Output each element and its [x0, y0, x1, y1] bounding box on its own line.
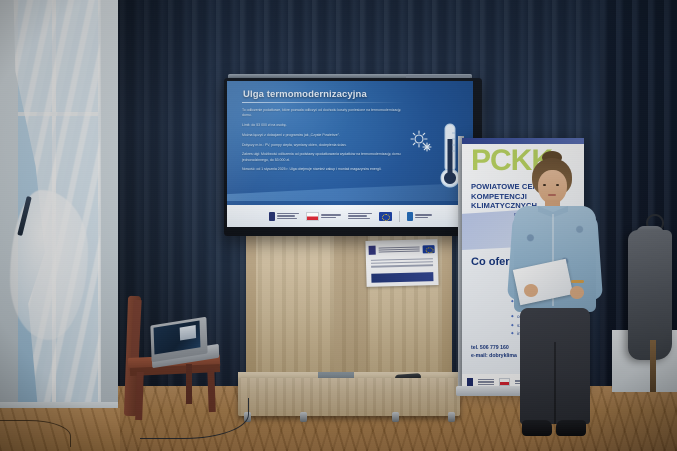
- fundusze-europejskie-logo: [369, 246, 376, 255]
- sign-text-lines: [379, 246, 420, 253]
- face: [538, 170, 567, 204]
- trousers: [520, 308, 590, 424]
- sign-highlight-bar: [371, 272, 433, 283]
- tv-stand-leg-left: [246, 225, 256, 377]
- caster-wheel: [448, 412, 455, 422]
- slide-footer-logos: [227, 205, 473, 227]
- eye-right: [556, 184, 559, 186]
- mouth: [548, 194, 556, 196]
- presenter: [498, 158, 610, 451]
- shoe-right: [556, 420, 586, 436]
- european-union-flag: [423, 245, 435, 253]
- caster-wheel: [392, 412, 399, 422]
- slide-bullet: Nowość: od 1 stycznia 2025 r. Ulga obejm…: [242, 167, 402, 172]
- sign-body-text: [371, 258, 433, 269]
- eye-left: [543, 184, 546, 186]
- ministerstwo-logo: [348, 213, 372, 219]
- slide-decorative-wave: [227, 183, 473, 201]
- european-union-flag: [379, 212, 392, 221]
- stand-information-sign: [365, 239, 438, 287]
- rzeczpospolita-polska-logo: [306, 212, 341, 221]
- hand-left: [524, 284, 538, 297]
- photo-scene: Ulga termomodernizacyjna To odliczenie p…: [0, 0, 677, 451]
- slide-title-underline: [242, 102, 404, 103]
- slide-bullet: To odliczenie podatkowe, które pozwala o…: [242, 108, 402, 119]
- tv-stand-platform: [238, 378, 460, 416]
- fundusze-europejskie-logo: [269, 212, 299, 221]
- hand-right: [570, 286, 584, 299]
- slide-bullet: Limit: do 53 000 zł na osobę.: [242, 123, 402, 128]
- banner-footer-text: [478, 379, 494, 385]
- bracelet: [571, 280, 584, 283]
- left-wall: [0, 0, 118, 451]
- sun-snowflake-icon: [409, 129, 435, 155]
- lubelskie-logo: [407, 212, 432, 221]
- shoe-left: [522, 420, 552, 436]
- slide-bullet: Dotyczy m.in.: PV, pompy ciepła, wymiany…: [242, 143, 402, 148]
- sign-logo-row: [368, 242, 434, 257]
- footer-divider: [399, 211, 400, 222]
- coat-rack-pole: [650, 340, 656, 392]
- tv-screen[interactable]: Ulga termomodernizacyjna To odliczenie p…: [227, 81, 473, 227]
- slide-bullet: Zakres ulgi: Możliwość odliczenia od pod…: [242, 152, 402, 163]
- caster-wheel: [300, 412, 307, 422]
- fundusze-europejskie-logo: [467, 378, 473, 386]
- slide-bullet-list: To odliczenie podatkowe, które pozwala o…: [242, 108, 402, 177]
- slide-title: Ulga termomodernizacyjna: [243, 89, 367, 100]
- slide-bullet: Można łączyć z dotacjami z programów jak…: [242, 133, 402, 138]
- tv-stand-leg-right: [442, 225, 452, 377]
